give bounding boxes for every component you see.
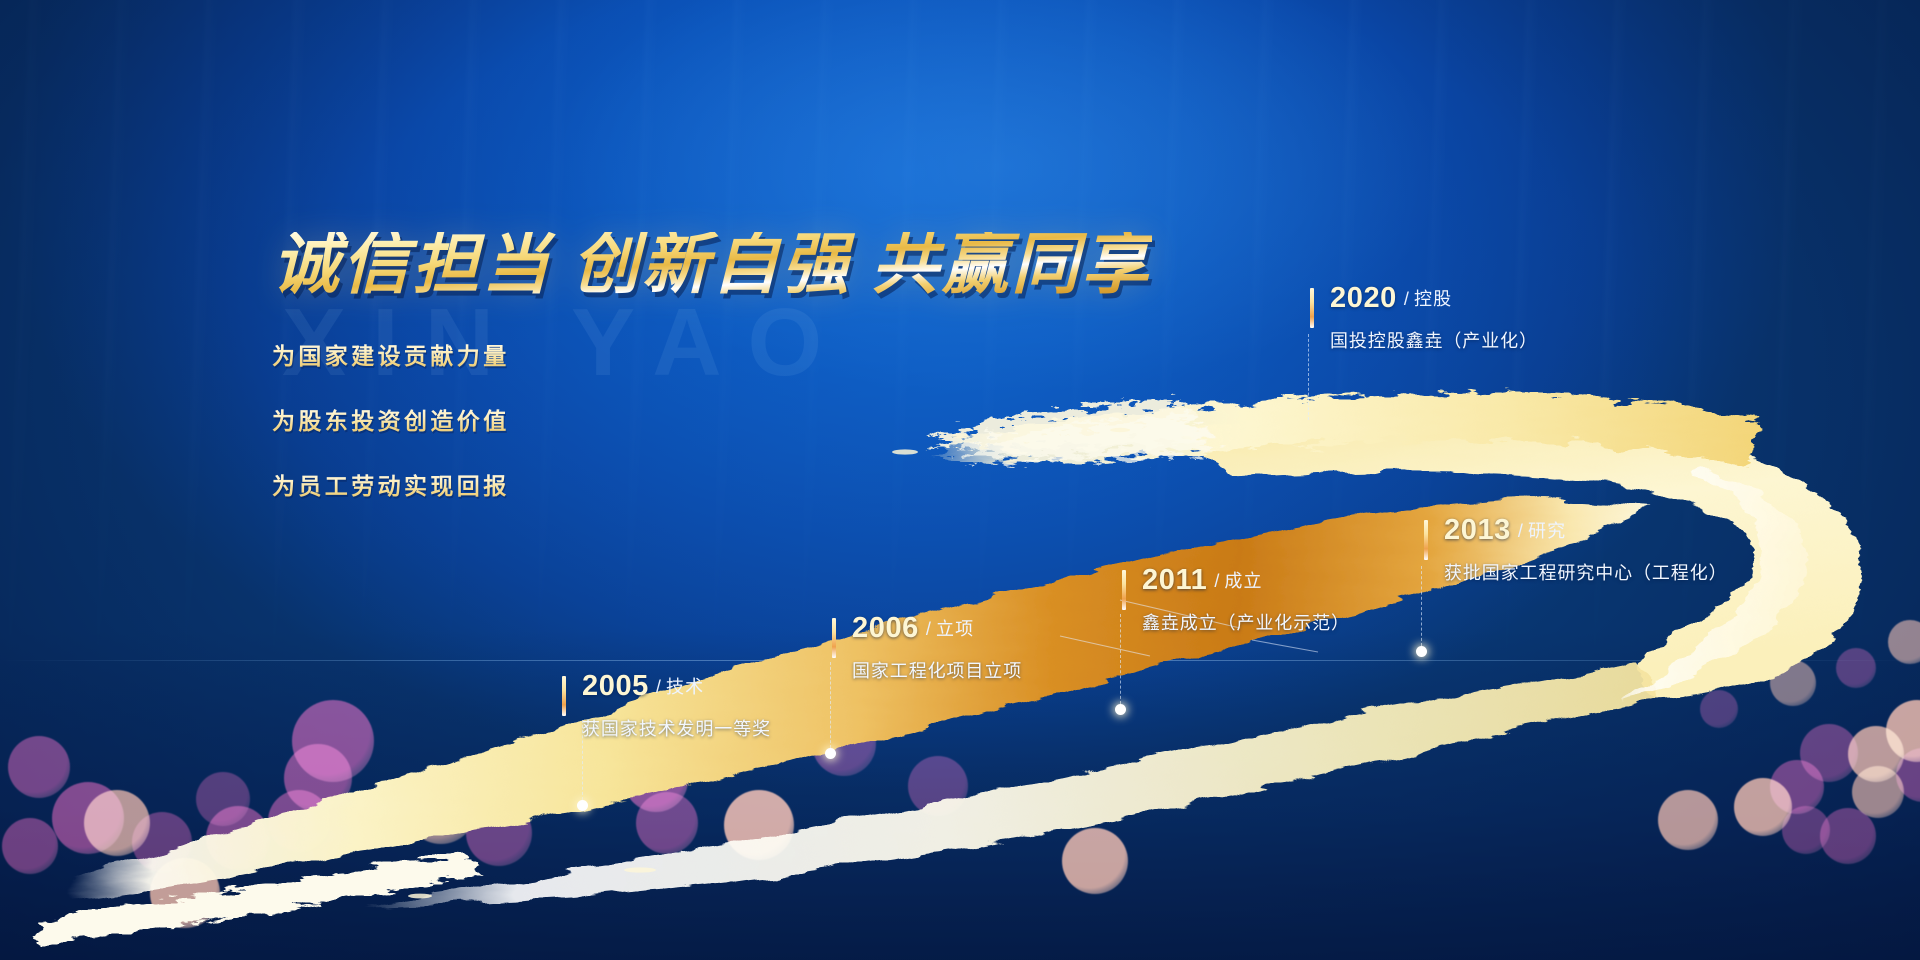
marker-description: 鑫垚成立（产业化示范） xyxy=(1142,609,1350,635)
marker-separator: / xyxy=(656,677,661,697)
marker-separator: / xyxy=(1518,521,1523,541)
banner-canvas: XIN YAO 诚信担当 创新自强 共赢同享 为国家建设贡献力量 为股东投资创造… xyxy=(0,0,1920,960)
marker-category: 技术 xyxy=(666,677,704,697)
marker-year: 2013 xyxy=(1444,514,1511,546)
leader-line-2020 xyxy=(1308,334,1309,420)
timeline-dot-2013 xyxy=(1416,646,1427,657)
timeline-marker-2006[interactable]: 2006/立项 国家工程化项目立项 xyxy=(832,614,1022,683)
marker-category: 控股 xyxy=(1414,289,1452,309)
tagline-item-1: 为国家建设贡献力量 xyxy=(272,337,1152,371)
marker-year-row: 2013/研究 xyxy=(1444,516,1728,545)
marker-separator: / xyxy=(1214,571,1219,591)
timeline-marker-2020[interactable]: 2020/控股 国投控股鑫垚（产业化） xyxy=(1310,284,1538,353)
page-title: 诚信担当 创新自强 共赢同享 xyxy=(272,232,1152,299)
marker-year-row: 2005/技术 xyxy=(582,672,771,701)
marker-category: 成立 xyxy=(1224,571,1262,591)
marker-accent-bar xyxy=(1122,570,1126,610)
marker-accent-bar xyxy=(1424,520,1428,560)
timeline-dot-2005 xyxy=(577,800,588,811)
marker-year: 2011 xyxy=(1142,564,1207,596)
marker-category: 立项 xyxy=(936,619,974,639)
marker-category: 研究 xyxy=(1528,521,1566,541)
timeline-marker-2005[interactable]: 2005/技术 获国家技术发明一等奖 xyxy=(562,672,771,741)
timeline-dot-2006 xyxy=(825,748,836,759)
marker-year-row: 2020/控股 xyxy=(1330,284,1538,313)
leader-line-2006 xyxy=(830,662,831,748)
timeline-marker-2013[interactable]: 2013/研究 获批国家工程研究中心（工程化） xyxy=(1424,516,1728,585)
marker-accent-bar xyxy=(1310,288,1314,328)
marker-description: 国投控股鑫垚（产业化） xyxy=(1330,327,1538,353)
marker-description: 获批国家工程研究中心（工程化） xyxy=(1444,559,1728,585)
marker-separator: / xyxy=(926,619,931,639)
marker-description: 获国家技术发明一等奖 xyxy=(582,715,771,741)
marker-year-row: 2006/立项 xyxy=(852,614,1022,643)
marker-year: 2020 xyxy=(1330,282,1397,314)
tagline-list: 为国家建设贡献力量 为股东投资创造价值 为员工劳动实现回报 xyxy=(272,337,1152,501)
marker-year: 2006 xyxy=(852,612,919,644)
leader-line-2005 xyxy=(582,720,583,800)
marker-description: 国家工程化项目立项 xyxy=(852,657,1022,683)
marker-accent-bar xyxy=(562,676,566,716)
leader-line-2011 xyxy=(1120,614,1121,704)
marker-separator: / xyxy=(1404,289,1409,309)
marker-year: 2005 xyxy=(582,670,649,702)
tagline-item-3: 为员工劳动实现回报 xyxy=(272,467,1152,501)
marker-year-row: 2011/成立 xyxy=(1142,566,1350,595)
leader-line-2013 xyxy=(1421,566,1422,646)
tagline-item-2: 为股东投资创造价值 xyxy=(272,402,1152,436)
headline-block: XIN YAO 诚信担当 创新自强 共赢同享 为国家建设贡献力量 为股东投资创造… xyxy=(272,232,1152,532)
timeline-marker-2011[interactable]: 2011/成立 鑫垚成立（产业化示范） xyxy=(1122,566,1350,635)
marker-accent-bar xyxy=(832,618,836,658)
timeline-dot-2011 xyxy=(1115,704,1126,715)
